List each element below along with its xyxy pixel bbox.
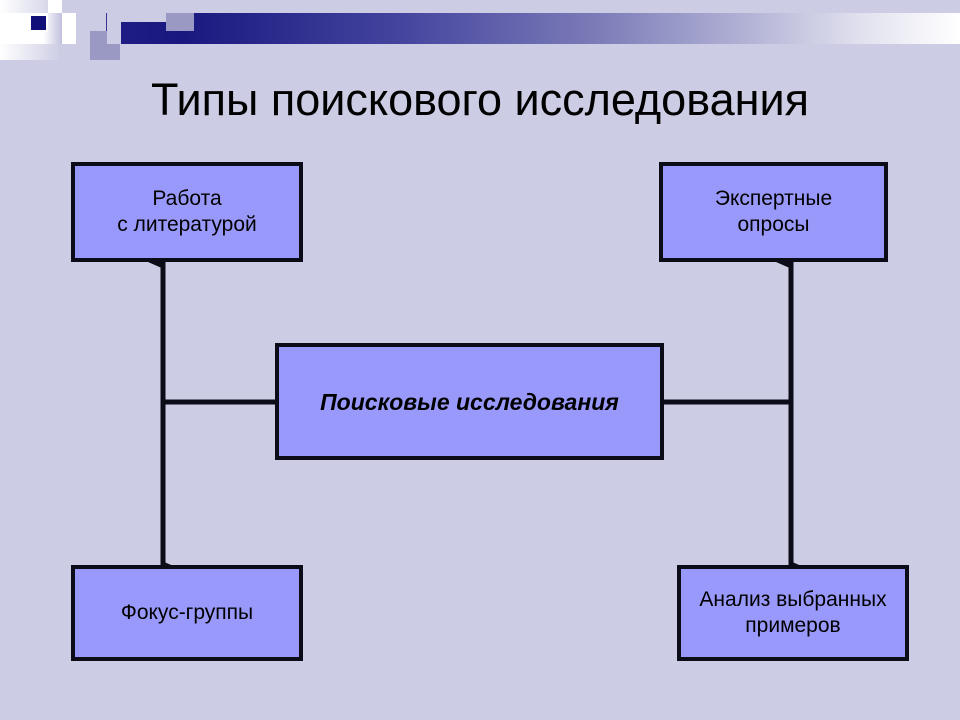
node-expert-surveys[interactable]: Экспертные опросы — [659, 162, 888, 262]
diagram-canvas: Работа с литературой Экспертные опросы П… — [0, 0, 960, 720]
node-focus-groups[interactable]: Фокус-группы — [71, 565, 303, 661]
node-exploratory-research-label: Поисковые исследования — [312, 389, 627, 415]
node-case-analysis-label: Анализ выбранных примеров — [691, 587, 894, 639]
node-focus-groups-label: Фокус-группы — [113, 600, 261, 626]
node-case-analysis[interactable]: Анализ выбранных примеров — [677, 565, 909, 661]
node-literature-review[interactable]: Работа с литературой — [71, 162, 303, 262]
node-literature-review-label: Работа с литературой — [109, 186, 264, 238]
node-exploratory-research[interactable]: Поисковые исследования — [275, 343, 664, 460]
node-expert-surveys-label: Экспертные опросы — [707, 186, 840, 238]
